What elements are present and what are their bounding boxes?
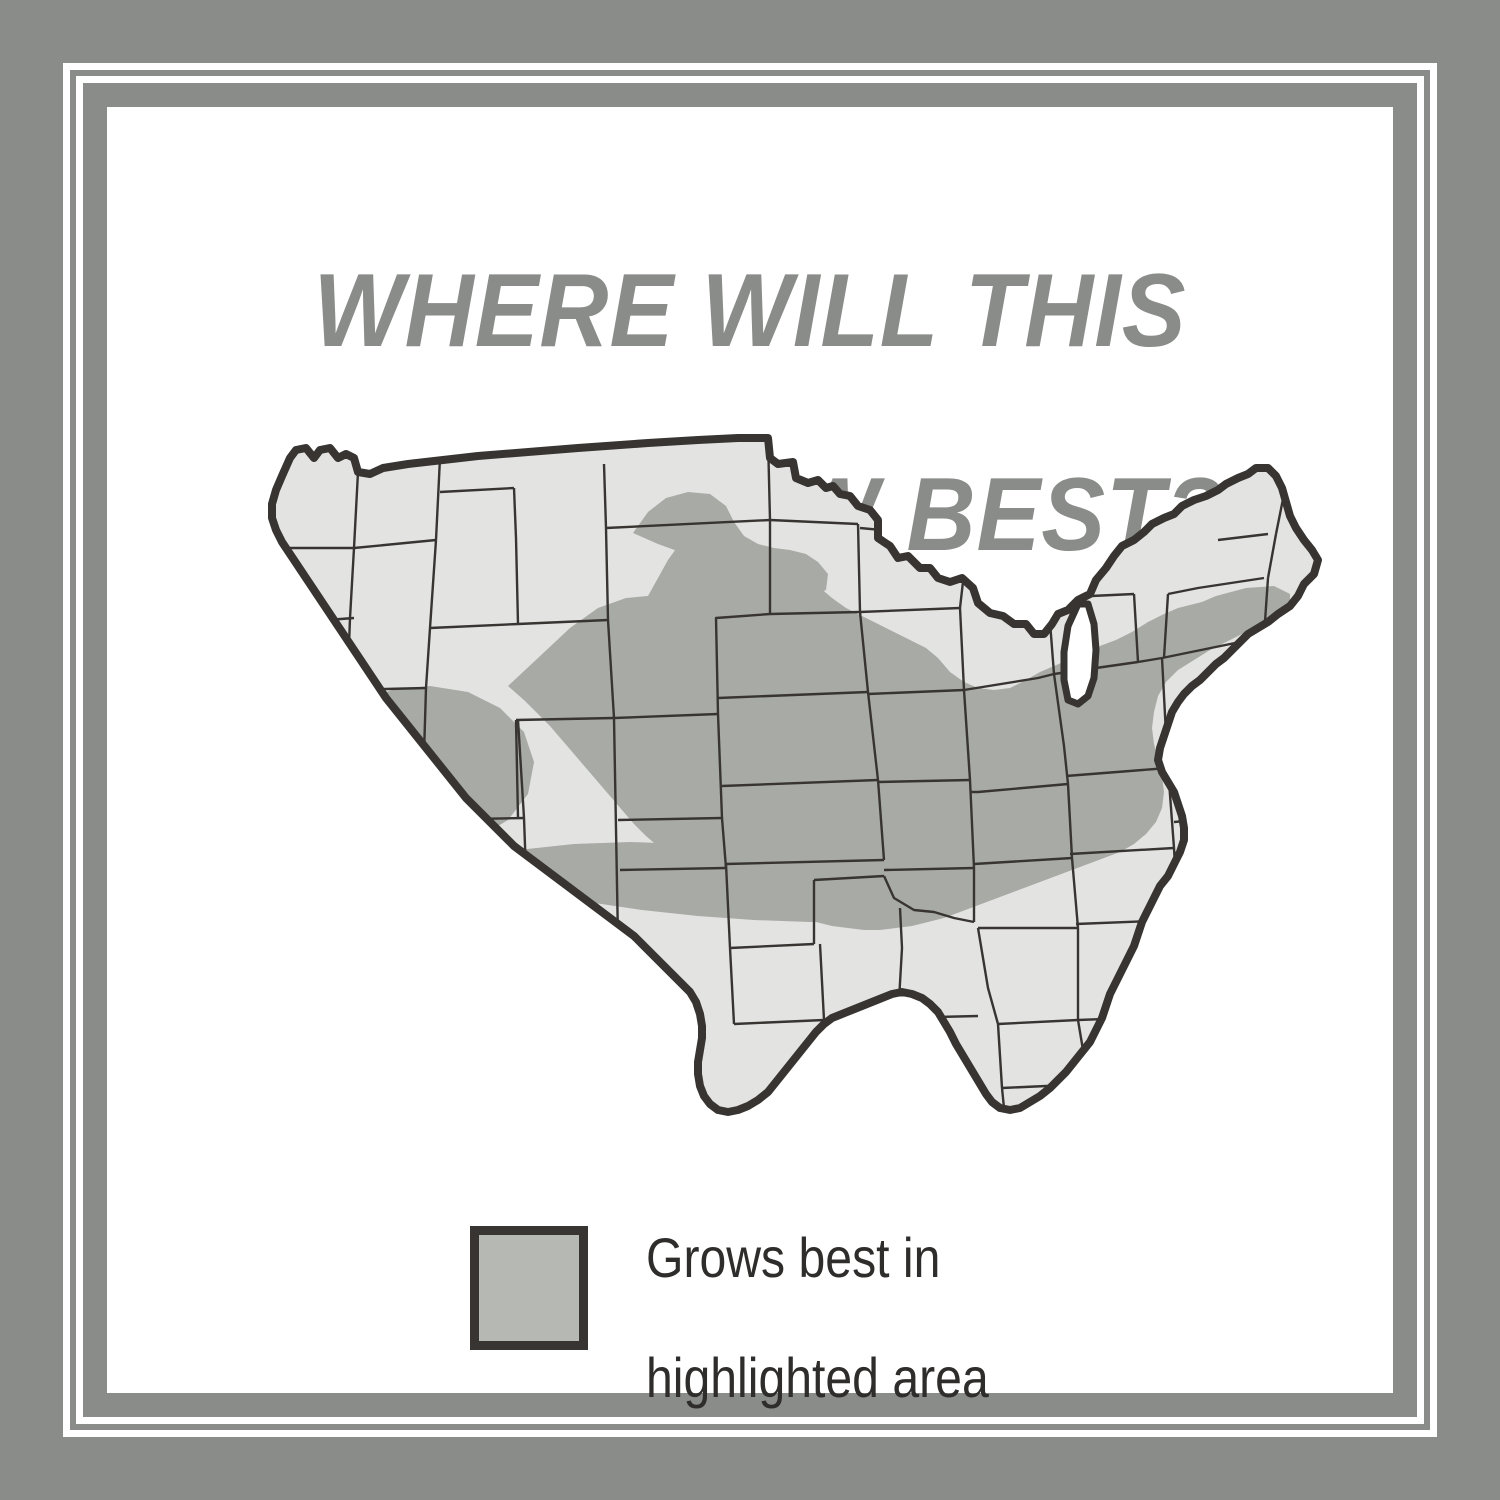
legend-label: Grows best in highlighted area <box>646 1168 989 1408</box>
map-legend: Grows best in highlighted area <box>470 1168 1045 1408</box>
legend-label-line-1: Grows best in <box>646 1226 940 1289</box>
legend-color-swatch <box>470 1226 588 1350</box>
lake-michigan <box>1064 604 1096 704</box>
poster-canvas: WHERE WILL THIS SEED GROW BEST? <box>0 0 1500 1500</box>
us-map <box>178 428 1323 1128</box>
highlight-region-california <box>214 648 354 784</box>
title-line-1: WHERE WILL THIS <box>158 260 1341 362</box>
us-map-svg <box>178 428 1323 1128</box>
great-lakes <box>1064 604 1096 704</box>
legend-label-line-2: highlighted area <box>646 1346 989 1409</box>
